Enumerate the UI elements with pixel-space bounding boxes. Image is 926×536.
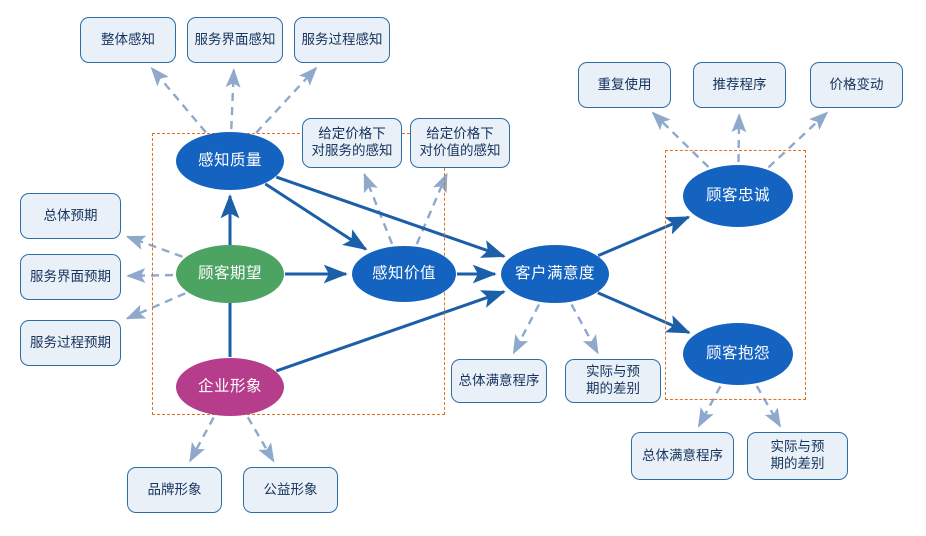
link-customer_satisfaction-to-overall_satisfaction_center — [514, 305, 539, 353]
indicator-box-public_welfare_image: 公益形象 — [243, 467, 338, 513]
construct-customer_expectation: 顾客期望 — [176, 245, 284, 303]
indicator-box-overall_satisfaction_right: 总体满意程序 — [631, 432, 734, 480]
link-perceived_quality-to-overall_perception — [152, 68, 206, 132]
indicator-box-overall_perception: 整体感知 — [80, 17, 176, 63]
indicator-box-service_process_expectation: 服务过程预期 — [20, 320, 121, 366]
link-corporate_image-to-public_welfare_image — [248, 417, 274, 461]
construct-perceived_quality: 感知质量 — [176, 132, 284, 190]
indicator-box-brand_image: 品牌形象 — [127, 467, 222, 513]
construct-customer_complaint: 顾客抱怨 — [683, 323, 793, 385]
diagram-canvas: 整体感知服务界面感知服务过程感知重复使用推荐程序价格变动给定价格下 对服务的感知… — [0, 0, 926, 536]
indicator-box-overall_satisfaction_center: 总体满意程序 — [451, 359, 547, 403]
indicator-box-price_change: 价格变动 — [810, 62, 903, 108]
link-corporate_image-to-brand_image — [190, 418, 213, 461]
indicator-box-service_process_perception: 服务过程感知 — [294, 17, 390, 63]
indicator-box-recommend_program: 推荐程序 — [693, 62, 786, 108]
indicator-box-overall_expectation: 总体预期 — [20, 193, 121, 239]
indicator-box-service_interface_perception: 服务界面感知 — [187, 17, 283, 63]
construct-corporate_image: 企业形象 — [176, 358, 284, 416]
construct-customer_loyalty: 顾客忠诚 — [683, 165, 793, 227]
indicator-box-repeat_use: 重复使用 — [578, 62, 671, 108]
link-perceived_quality-to-service_interface_perception — [231, 70, 234, 129]
link-customer_satisfaction-to-actual_vs_expected_center — [572, 305, 598, 353]
indicator-box-service_perception_at_price: 给定价格下 对服务的感知 — [302, 118, 402, 168]
construct-customer_satisfaction: 客户满意度 — [501, 245, 609, 303]
indicator-box-actual_vs_expected_center: 实际与预 期的差别 — [565, 359, 661, 403]
indicator-box-actual_vs_expected_right: 实际与预 期的差别 — [747, 432, 848, 480]
indicator-box-service_interface_expectation: 服务界面预期 — [20, 254, 121, 300]
construct-perceived_value: 感知价值 — [352, 246, 456, 302]
indicator-box-value_perception_at_price: 给定价格下 对价值的感知 — [410, 118, 510, 168]
